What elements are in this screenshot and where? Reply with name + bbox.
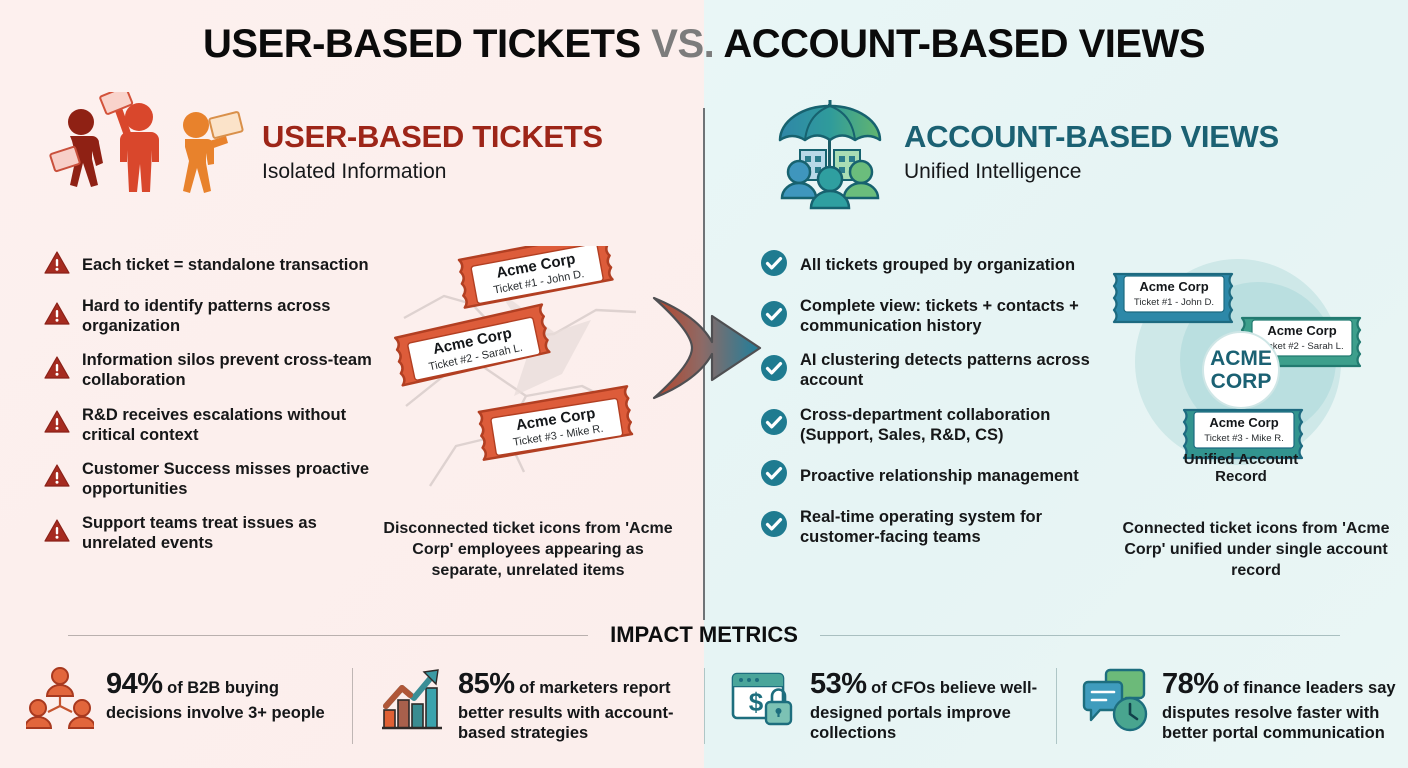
list-item: Cross-department collaboration (Support,… xyxy=(760,405,1100,445)
metric-percent: 78% xyxy=(1162,668,1219,700)
list-item: Information silos prevent cross-team col… xyxy=(44,350,374,390)
hub-label-line2: CORP xyxy=(1211,370,1272,393)
unified-account-illustration: Acme Corp Ticket #1 - John D. Acme Corp … xyxy=(1108,252,1398,484)
secure-payment-portal-icon: $ xyxy=(730,666,798,739)
people-network-icon xyxy=(26,666,94,739)
hub-sublabel-line1: Unified Account xyxy=(1184,451,1298,468)
warning-triangle-icon xyxy=(44,302,70,331)
warning-triangle-icon xyxy=(44,251,70,280)
metric-card: 85% of marketers report better results w… xyxy=(352,662,704,762)
svg-text:Ticket #3 - Mike R.: Ticket #3 - Mike R. xyxy=(1204,433,1284,444)
ticket-card: Acme Corp Ticket #1 - John D. xyxy=(1114,274,1232,322)
list-item: Customer Success misses proactive opport… xyxy=(44,459,374,499)
left-illustration-caption: Disconnected ticket icons from 'Acme Cor… xyxy=(378,518,678,581)
list-item: All tickets grouped by organization xyxy=(760,248,1100,282)
left-heading: USER-BASED TICKETS xyxy=(262,120,603,154)
list-item-label: AI clustering detects patterns across ac… xyxy=(800,350,1100,390)
impact-metrics-header: IMPACT METRICS xyxy=(0,622,1408,648)
hub-sublabel-line2: Record xyxy=(1215,468,1267,484)
title-part-right: ACCOUNT-BASED VIEWS xyxy=(714,22,1205,66)
left-bullet-list: Each ticket = standalone transaction Har… xyxy=(44,248,374,567)
divider-left xyxy=(68,635,588,636)
right-bullet-list: All tickets grouped by organization Comp… xyxy=(760,248,1100,561)
chat-clock-icon xyxy=(1082,666,1150,739)
warning-triangle-icon xyxy=(44,519,70,548)
infographic-canvas: USER-BASED TICKETS VS. ACCOUNT-BASED VIE… xyxy=(0,0,1408,768)
check-circle-icon xyxy=(760,249,788,282)
svg-text:Ticket #1 - John D.: Ticket #1 - John D. xyxy=(1134,297,1214,308)
warning-triangle-icon xyxy=(44,356,70,385)
metric-percent: 53% xyxy=(810,668,867,700)
disconnected-tickets-illustration: Acme Corp Ticket #1 - John D. Acme Corp … xyxy=(386,246,676,496)
growth-bar-chart-icon xyxy=(378,666,446,739)
left-subheading: Isolated Information xyxy=(262,160,603,184)
ticket-card: Acme Corp Ticket #3 - Mike R. xyxy=(478,386,633,459)
list-item: AI clustering detects patterns across ac… xyxy=(760,350,1100,390)
title-vs: VS. xyxy=(651,22,714,66)
three-people-with-tickets-icon xyxy=(46,92,246,212)
list-item: Complete view: tickets + contacts + comm… xyxy=(760,296,1100,336)
svg-text:$: $ xyxy=(749,687,764,717)
left-column-header: USER-BASED TICKETS Isolated Information xyxy=(46,92,603,212)
list-item: Hard to identify patterns across organiz… xyxy=(44,296,374,336)
metric-card: 94% of B2B buying decisions involve 3+ p… xyxy=(0,662,352,762)
list-item-label: Customer Success misses proactive opport… xyxy=(82,459,374,499)
list-item-label: Support teams treat issues as unrelated … xyxy=(82,513,374,553)
page-title: USER-BASED TICKETS VS. ACCOUNT-BASED VIE… xyxy=(0,22,1408,67)
divider-right xyxy=(820,635,1340,636)
left-header-text: USER-BASED TICKETS Isolated Information xyxy=(262,120,603,183)
right-column-header: ACCOUNT-BASED VIEWS Unified Intelligence xyxy=(772,92,1279,212)
right-subheading: Unified Intelligence xyxy=(904,160,1279,184)
list-item-label: Each ticket = standalone transaction xyxy=(82,255,369,275)
list-item-label: All tickets grouped by organization xyxy=(800,255,1075,275)
check-circle-icon xyxy=(760,408,788,441)
ticket-card: Acme Corp Ticket #1 - John D. xyxy=(458,246,614,308)
metric-percent: 85% xyxy=(458,668,515,700)
list-item-label: Complete view: tickets + contacts + comm… xyxy=(800,296,1100,336)
metric-card: 78% of finance leaders say disputes reso… xyxy=(1056,662,1408,762)
list-item-label: Hard to identify patterns across organiz… xyxy=(82,296,374,336)
metric-text: 53% of CFOs believe well-designed portal… xyxy=(810,662,1044,744)
warning-triangle-icon xyxy=(44,464,70,493)
metric-percent: 94% xyxy=(106,668,163,700)
list-item: Real-time operating system for customer-… xyxy=(760,507,1100,547)
metric-text: 85% of marketers report better results w… xyxy=(458,662,692,744)
list-item-label: Proactive relationship management xyxy=(800,466,1079,486)
list-item: Each ticket = standalone transaction xyxy=(44,248,374,282)
umbrella-over-people-and-buildings-icon xyxy=(772,92,888,212)
list-item: Proactive relationship management xyxy=(760,459,1100,493)
check-circle-icon xyxy=(760,510,788,543)
list-item: R&D receives escalations without critica… xyxy=(44,405,374,445)
check-circle-icon xyxy=(760,459,788,492)
svg-text:Acme Corp: Acme Corp xyxy=(1209,415,1278,430)
right-header-text: ACCOUNT-BASED VIEWS Unified Intelligence xyxy=(904,120,1279,183)
list-item-label: R&D receives escalations without critica… xyxy=(82,405,374,445)
hub-label-line1: ACME xyxy=(1210,347,1272,370)
svg-text:Acme Corp: Acme Corp xyxy=(1267,323,1336,338)
impact-metrics-title: IMPACT METRICS xyxy=(610,622,798,648)
impact-metrics-row: 94% of B2B buying decisions involve 3+ p… xyxy=(0,662,1408,762)
right-arrow-transition-icon xyxy=(648,292,766,404)
list-item-label: Cross-department collaboration (Support,… xyxy=(800,405,1100,445)
svg-text:Acme Corp: Acme Corp xyxy=(1139,279,1208,294)
warning-triangle-icon xyxy=(44,410,70,439)
title-part-left: USER-BASED TICKETS xyxy=(203,22,651,66)
list-item-label: Information silos prevent cross-team col… xyxy=(82,350,374,390)
list-item-label: Real-time operating system for customer-… xyxy=(800,507,1100,547)
list-item: Support teams treat issues as unrelated … xyxy=(44,513,374,553)
metric-card: $ 53% of CFOs believe well-designed port… xyxy=(704,662,1056,762)
right-illustration-caption: Connected ticket icons from 'Acme Corp' … xyxy=(1106,518,1406,581)
metric-text: 94% of B2B buying decisions involve 3+ p… xyxy=(106,662,340,723)
right-heading: ACCOUNT-BASED VIEWS xyxy=(904,120,1279,154)
metric-text: 78% of finance leaders say disputes reso… xyxy=(1162,662,1396,744)
